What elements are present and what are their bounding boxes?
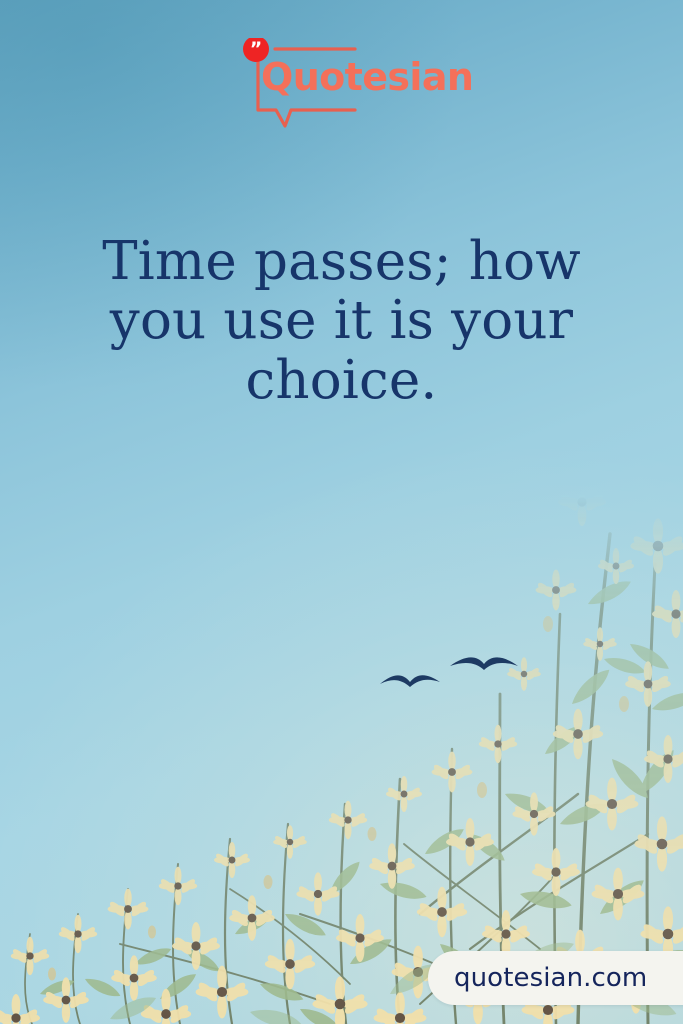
website-url-badge[interactable]: quotesian.com bbox=[428, 951, 683, 1005]
site-logo[interactable]: ” Quotesian bbox=[235, 38, 460, 138]
website-url-text: quotesian.com bbox=[454, 951, 647, 1005]
logo-wordmark: Quotesian bbox=[261, 58, 473, 96]
quote-line-3: choice. bbox=[50, 351, 633, 410]
quote-poster: ” Quotesian Time passes; how you use it … bbox=[0, 0, 683, 1024]
quote-text: Time passes; how you use it is your choi… bbox=[50, 232, 633, 410]
quote-line-2: you use it is your bbox=[50, 291, 633, 350]
flower-foliage bbox=[0, 494, 683, 1024]
quote-line-1: Time passes; how bbox=[50, 232, 633, 291]
